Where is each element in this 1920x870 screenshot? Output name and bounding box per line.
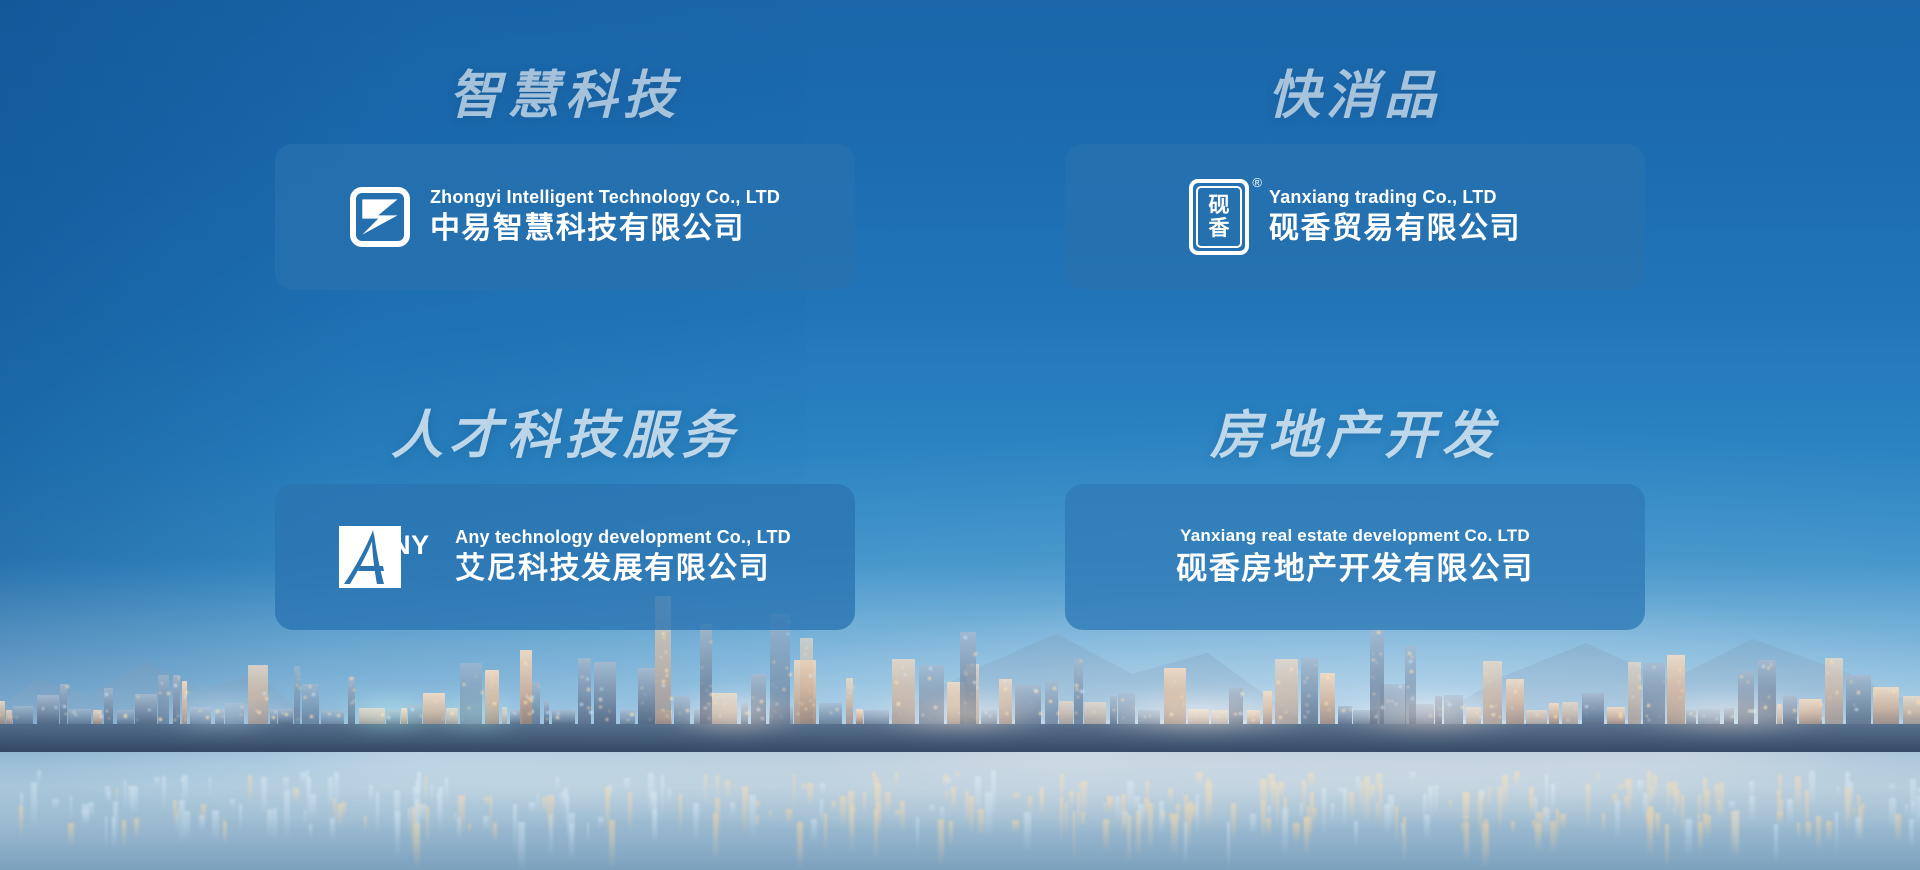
company-name-cn: 中易智慧科技有限公司 bbox=[430, 209, 780, 250]
seal-inner-border: 砚 香 bbox=[1196, 186, 1242, 248]
sector-title-talent-services: 人才科技服务 bbox=[275, 410, 855, 462]
company-names-zhongyi: Zhongyi Intelligent Technology Co., LTD … bbox=[430, 185, 780, 250]
seal-char-bottom: 香 bbox=[1209, 218, 1230, 239]
company-name-cn: 砚香房地产开发有限公司 bbox=[1176, 548, 1534, 590]
company-name-en: Yanxiang trading Co., LTD bbox=[1269, 185, 1521, 209]
company-name-en: Zhongyi Intelligent Technology Co., LTD bbox=[430, 185, 780, 209]
sector-title-fmcg: 快消品 bbox=[1065, 70, 1645, 122]
seal-char-top: 砚 bbox=[1209, 195, 1230, 216]
company-names-any: Any technology development Co., LTD 艾尼科技… bbox=[455, 525, 791, 590]
letter-a-icon bbox=[343, 528, 397, 586]
sector-grid: 智慧科技 Zhongyi Intelligent Technology Co.,… bbox=[0, 0, 1920, 870]
company-names-yanxiang-real-estate: Yanxiang real estate development Co. LTD… bbox=[1176, 525, 1534, 590]
logo-text-ny: NY bbox=[391, 530, 430, 561]
registered-trademark-icon: ® bbox=[1252, 176, 1262, 189]
company-name-cn: 砚香贸易有限公司 bbox=[1269, 209, 1521, 250]
sector-title-smart-technology: 智慧科技 bbox=[275, 70, 855, 122]
any-logo: NY bbox=[339, 526, 435, 588]
company-name-en: Yanxiang real estate development Co. LTD bbox=[1180, 525, 1530, 548]
sector-fmcg: 快消品 砚 香 ® Yanxiang trading Co., LTD 砚香贸易… bbox=[990, 70, 1720, 410]
company-names-yanxiang-trading: Yanxiang trading Co., LTD 砚香贸易有限公司 bbox=[1269, 185, 1521, 250]
sector-real-estate: 房地产开发 Yanxiang real estate development C… bbox=[990, 410, 1720, 750]
company-name-cn: 艾尼科技发展有限公司 bbox=[455, 549, 791, 590]
company-card-any[interactable]: NY Any technology development Co., LTD 艾… bbox=[275, 484, 855, 630]
yanxiang-seal-logo: 砚 香 ® bbox=[1189, 179, 1249, 255]
company-card-yanxiang-trading[interactable]: 砚 香 ® Yanxiang trading Co., LTD 砚香贸易有限公司 bbox=[1065, 144, 1645, 290]
zhongyi-logo bbox=[350, 187, 410, 247]
company-card-yanxiang-real-estate[interactable]: Yanxiang real estate development Co. LTD… bbox=[1065, 484, 1645, 630]
sector-smart-technology: 智慧科技 Zhongyi Intelligent Technology Co.,… bbox=[200, 70, 930, 410]
company-name-en: Any technology development Co., LTD bbox=[455, 525, 791, 549]
company-card-zhongyi[interactable]: Zhongyi Intelligent Technology Co., LTD … bbox=[275, 144, 855, 290]
sector-title-real-estate: 房地产开发 bbox=[1065, 410, 1645, 462]
sector-talent-services: 人才科技服务 NY Any technology development Co.… bbox=[200, 410, 930, 750]
